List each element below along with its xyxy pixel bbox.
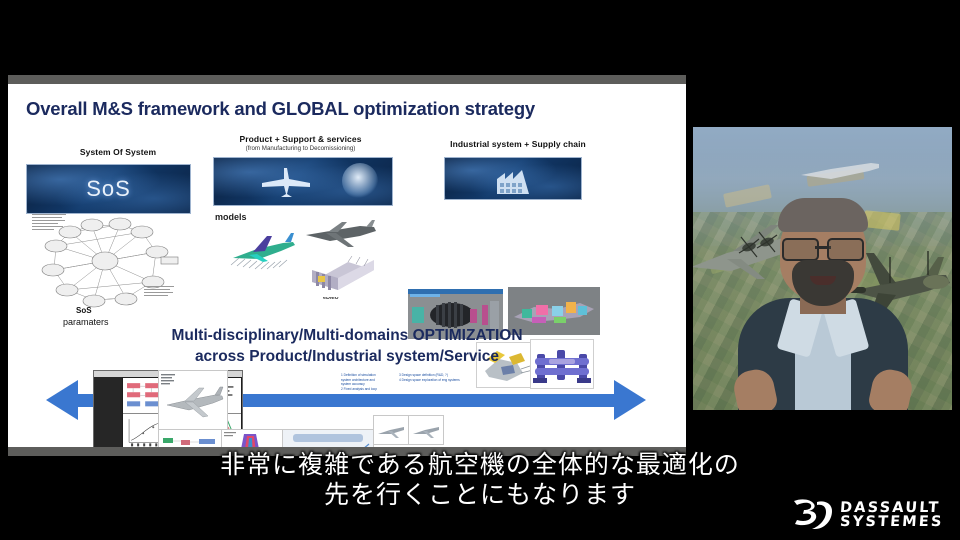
airplane-icon bbox=[256, 166, 314, 198]
sos-banner-label: SoS bbox=[27, 165, 190, 213]
logo-wordmark: DASSAULT SYSTEMES bbox=[840, 501, 944, 530]
hair bbox=[778, 198, 868, 232]
annotation-column-a: 1 Definition of simulation system archit… bbox=[341, 373, 377, 392]
slide-bottom-bar bbox=[8, 447, 686, 456]
annotation-line: 4 Design space exploration of eng system… bbox=[399, 378, 460, 383]
dna-helix-icon bbox=[342, 163, 378, 199]
cfd-aircraft-image bbox=[223, 224, 303, 276]
screenshot-sidebar bbox=[94, 377, 122, 447]
3ds-logo-mark bbox=[791, 498, 833, 532]
models-label: models bbox=[215, 212, 247, 222]
dassault-systemes-logo: DASSAULT SYSTEMES bbox=[791, 498, 944, 532]
result-thumbnail bbox=[158, 429, 222, 447]
eyeglasses bbox=[782, 238, 864, 258]
aircraft-configuration-image bbox=[158, 370, 228, 430]
lens-right bbox=[827, 238, 864, 261]
result-thumbnail-row bbox=[158, 429, 498, 447]
slide-top-bar bbox=[8, 75, 686, 84]
sos-banner-image: SoS bbox=[26, 164, 191, 214]
annotation-column-b: 3 Design space definition (R&D, ?) 4 Des… bbox=[399, 373, 460, 392]
column-heading-text: Product + Support & services bbox=[193, 134, 408, 144]
annotation-line: 2 Fixed analysis and loop bbox=[341, 387, 377, 392]
presentation-slide: Overall M&S framework and GLOBAL optimiz… bbox=[8, 75, 686, 456]
presenter-figure bbox=[737, 224, 909, 410]
distant-aircraft bbox=[797, 157, 887, 187]
sos-parameters-label: paramaters bbox=[63, 317, 109, 327]
arrow-head-right bbox=[614, 380, 646, 420]
column-heading-text: System Of System bbox=[48, 147, 188, 157]
optimization-headline-line2: across Product/Industrial system/Service bbox=[8, 348, 686, 366]
logo-line-1: DASSAULT bbox=[840, 501, 945, 516]
factory-icon bbox=[491, 165, 539, 195]
annotation-line: 1 Definition of simulation bbox=[341, 373, 377, 378]
logo-line-2: SYSTEMES bbox=[840, 515, 945, 530]
column-heading-system-of-system: System Of System bbox=[48, 147, 188, 157]
column-heading-industrial-system: Industrial system + Supply chain bbox=[408, 139, 628, 149]
sos-diagram-label: SoS bbox=[76, 306, 92, 315]
product-banner-image bbox=[213, 157, 393, 206]
column-subheading-text: (from Manufacturing to Decomissioning) bbox=[193, 145, 408, 152]
industrial-banner-image bbox=[444, 157, 582, 200]
result-thumbnail bbox=[221, 429, 283, 447]
column-heading-product-support: Product + Support & services (from Manuf… bbox=[193, 134, 408, 152]
slide-title: Overall M&S framework and GLOBAL optimiz… bbox=[26, 98, 535, 120]
presenter-video-tile[interactable] bbox=[693, 127, 952, 410]
annotation-text-block: 1 Definition of simulation system archit… bbox=[341, 373, 491, 393]
column-heading-text: Industrial system + Supply chain bbox=[408, 139, 628, 149]
sos-network-diagram bbox=[30, 212, 180, 310]
head bbox=[780, 204, 866, 300]
slide-content: Overall M&S framework and GLOBAL optimiz… bbox=[8, 84, 686, 447]
edmu-image bbox=[308, 252, 378, 297]
result-thumbnail bbox=[408, 415, 444, 445]
mouth bbox=[810, 276, 836, 285]
optimization-headline-line1: Multi-disciplinary/Multi-domains OPTIMIZ… bbox=[8, 327, 686, 345]
video-player-frame: Overall M&S framework and GLOBAL optimiz… bbox=[0, 0, 960, 540]
result-thumbnail bbox=[282, 429, 374, 447]
lens-left bbox=[782, 238, 819, 261]
result-thumbnail bbox=[373, 415, 409, 445]
